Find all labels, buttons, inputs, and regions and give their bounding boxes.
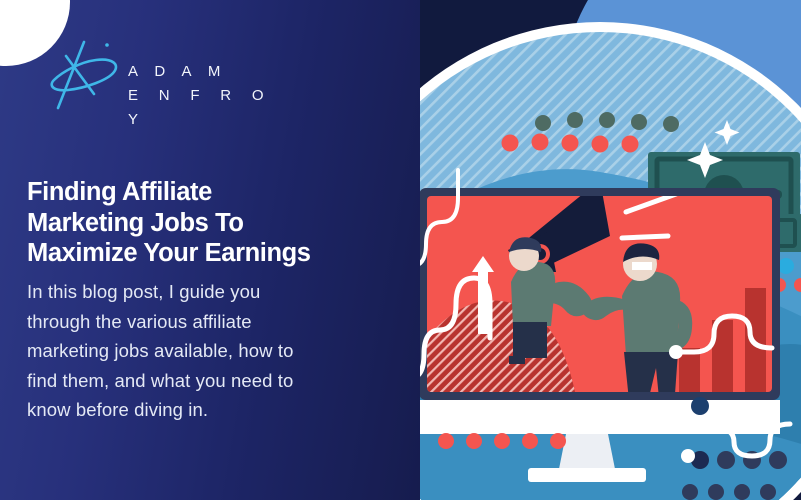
body-line-5: know before diving in. — [27, 395, 357, 425]
body-line-2: through the various affiliate — [27, 307, 357, 337]
body-line-4: find them, and what you need to — [27, 366, 357, 396]
brand-name-line1: A D A M — [128, 63, 227, 80]
body-line-1: In this blog post, I guide you — [27, 277, 357, 307]
dot-navy-single — [691, 397, 709, 415]
brand-name: A D A M E N F R O Y — [128, 60, 286, 132]
brand-logo[interactable]: A D A M E N F R O Y — [36, 34, 286, 132]
adam-enfroy-a-swoosh-logo-icon — [36, 34, 126, 114]
description-text: In this blog post, I guide you through t… — [27, 277, 357, 425]
page-title: Finding Affiliate Marketing Jobs To Maxi… — [27, 177, 377, 269]
featured-image-canvas: A D A M E N F R O Y Finding Affiliate Ma… — [0, 0, 801, 500]
body-line-3: marketing jobs available, how to — [27, 336, 357, 366]
headline-line-3: Maximize Your Earnings — [27, 238, 377, 269]
headline-line-1: Finding Affiliate — [27, 177, 377, 208]
headline-line-2: Marketing Jobs To — [27, 208, 377, 239]
brand-name-line2: E N F R O Y — [128, 84, 286, 132]
